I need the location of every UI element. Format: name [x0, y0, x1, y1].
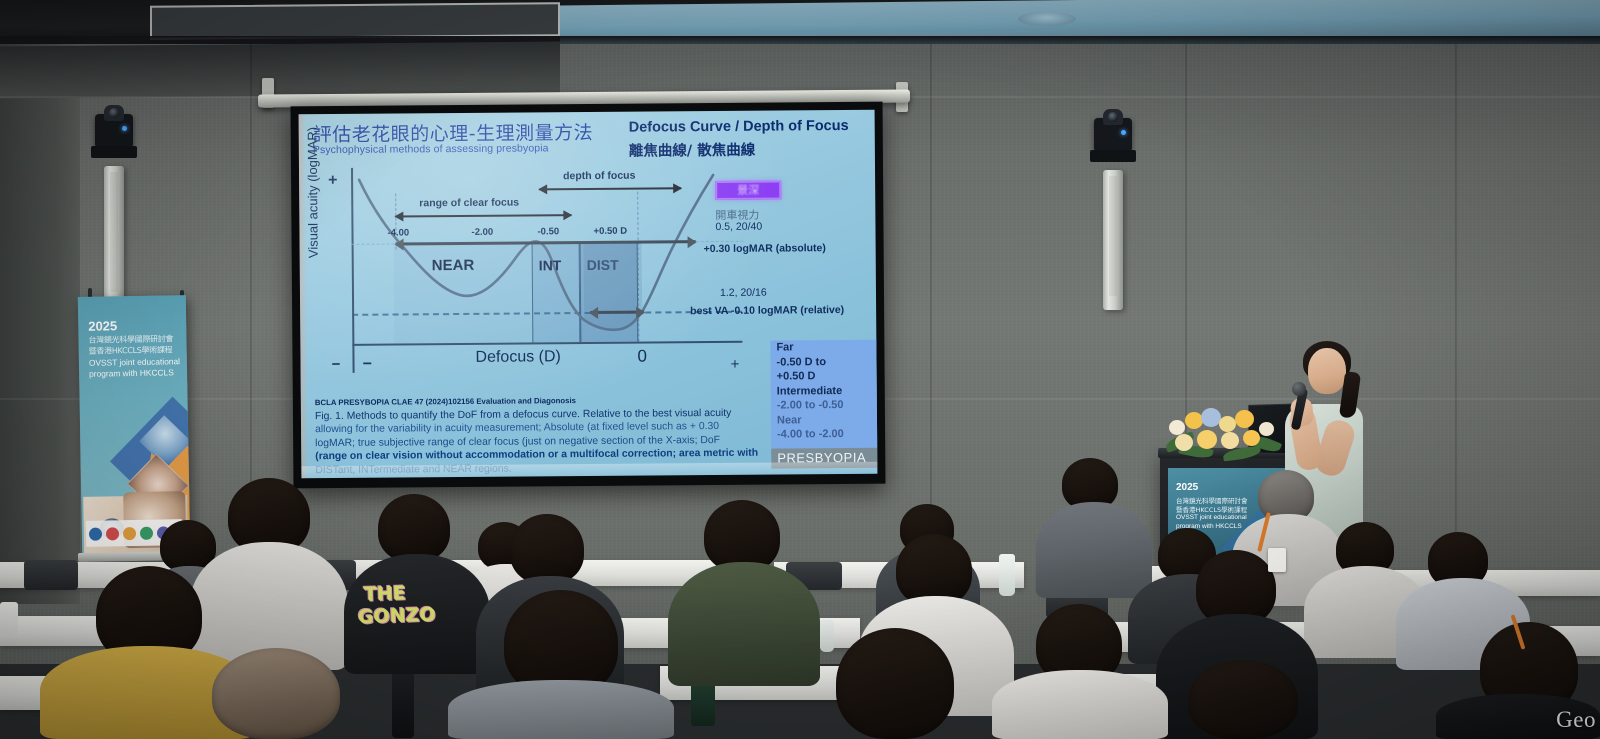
flower — [1201, 408, 1221, 427]
projection-screen: 評估老花眼的心理-生理測量方法 Psychophysical methods o… — [291, 102, 886, 489]
rollup-banner: 2025 台灣鏡光科學國際研討會 暨香港HKCCLS學術課程 OVSST joi… — [78, 295, 190, 555]
legend-int-label: Intermediate — [771, 383, 878, 398]
chair — [24, 560, 78, 590]
audience-head — [1188, 660, 1298, 739]
audience-body — [992, 670, 1168, 739]
chart-label-dist: DIST — [587, 257, 619, 273]
tshirt-graphic-line1: THE — [364, 585, 406, 603]
highlight-box-text: 景深 — [717, 182, 779, 197]
audience-body — [448, 680, 674, 739]
ceiling-access-panel — [150, 2, 560, 40]
wall-speaker-left — [104, 166, 124, 306]
audience-head — [212, 648, 340, 739]
wall-speaker-right — [1103, 170, 1123, 310]
flower — [1175, 434, 1193, 451]
sponsor-logo-icon — [140, 526, 153, 539]
legend-box: Far -0.50 D to +0.50 D Intermediate -2.0… — [770, 340, 877, 449]
banner-year: 2025 — [88, 318, 117, 334]
slide-citation: BCLA PRESYBOPIA CLAE 47 (2024)102156 Eva… — [315, 396, 576, 407]
flower — [1169, 420, 1185, 435]
podium-banner-year: 2025 — [1176, 482, 1198, 493]
lecture-hall-photo: 評估老花眼的心理-生理測量方法 Psychophysical methods o… — [0, 0, 1600, 739]
arrow-label-depth-of-focus: depth of focus — [563, 170, 635, 183]
slide-heading-en: Defocus Curve / Depth of Focus — [629, 118, 849, 136]
note-va-1-2: 1.2, 20/16 — [720, 287, 767, 299]
cup — [0, 602, 18, 636]
presenter-head — [1308, 348, 1346, 394]
banner-en-line2: program with HKCCLS — [89, 367, 174, 378]
wall-top-shadow — [0, 42, 560, 99]
presentation-slide: 評估老花眼的心理-生理測量方法 Psychophysical methods o… — [299, 110, 878, 479]
legend-far-label: Far — [770, 340, 877, 355]
podium-banner-en-line1: OVSST joint educational — [1176, 514, 1247, 521]
banner-en-line1: OVSST joint educational — [89, 356, 180, 368]
sponsor-logo-icon — [89, 527, 102, 540]
note-absolute: +0.30 logMAR (absolute) — [704, 242, 826, 255]
banner-zh-line2: 暨香港HKCCLS學術課程 — [89, 344, 173, 356]
slide-title-en: Psychophysical methods of assessing pres… — [313, 142, 549, 156]
legend-near-label: Near — [771, 412, 877, 427]
chart-tick-minus05: -0.50 — [537, 226, 559, 237]
flower — [1259, 422, 1274, 436]
ptz-camera — [1094, 118, 1132, 152]
flower — [1243, 430, 1260, 446]
note-va-0-5: 0.5, 20/40 — [715, 221, 762, 233]
audience-body — [1036, 502, 1152, 598]
corner-watermark: Geo — [1556, 707, 1596, 733]
flower — [1221, 432, 1239, 449]
camera-mount — [91, 146, 137, 158]
podium-banner-zh-line2: 暨香港HKCCLS學術課程 — [1176, 504, 1247, 514]
slide-heading-zh: 離焦曲線/ 散焦曲線 — [629, 139, 756, 161]
flower-arrangement — [1163, 406, 1283, 462]
audience-head — [510, 514, 584, 584]
camera-led-icon — [1121, 130, 1126, 135]
chart-label-near: NEAR — [432, 257, 475, 274]
sponsor-logo-icon — [106, 527, 119, 540]
flower — [1235, 410, 1254, 428]
camera-lens-icon — [104, 105, 124, 121]
legend-far-range-b: +0.50 D — [771, 369, 878, 384]
microphone-head — [1292, 382, 1306, 396]
audience-body — [668, 562, 820, 686]
chart-tick-minus2: -2.00 — [471, 227, 493, 238]
chart-label-int: INT — [539, 257, 562, 273]
water-bottle — [999, 554, 1015, 596]
water-bottle — [392, 672, 414, 738]
flower — [1197, 430, 1217, 449]
legend-far-range-a: -0.50 D to — [770, 354, 877, 369]
note-relative: best VA -0.10 logMAR (relative) — [690, 304, 844, 317]
highlight-box: 景深 — [715, 180, 781, 200]
camera-mount — [1090, 150, 1136, 162]
ptz-camera — [95, 114, 133, 148]
legend-near-range: -4.00 to -2.00 — [771, 427, 877, 442]
camera-lens-icon — [1103, 109, 1123, 125]
name-badge — [1268, 548, 1286, 572]
flower — [1219, 416, 1236, 432]
chart-tick-plus05: +0.50 D — [593, 226, 627, 237]
audience-head — [836, 628, 954, 739]
wall-left-dark-column — [0, 44, 80, 604]
chart-tick-minus4: -4.00 — [387, 227, 409, 238]
tshirt-graphic-line2: GONZO — [358, 607, 436, 627]
sponsor-logo-icon — [123, 526, 136, 539]
water-bottle — [820, 620, 834, 652]
arrow-label-range-of-clear-focus: range of clear focus — [419, 197, 519, 210]
legend-int-range: -2.00 to -0.50 — [771, 398, 878, 413]
camera-led-icon — [122, 126, 127, 131]
ceiling-vent — [1018, 12, 1076, 26]
arrow-relative-dof — [590, 311, 644, 314]
audience-head — [378, 494, 450, 562]
